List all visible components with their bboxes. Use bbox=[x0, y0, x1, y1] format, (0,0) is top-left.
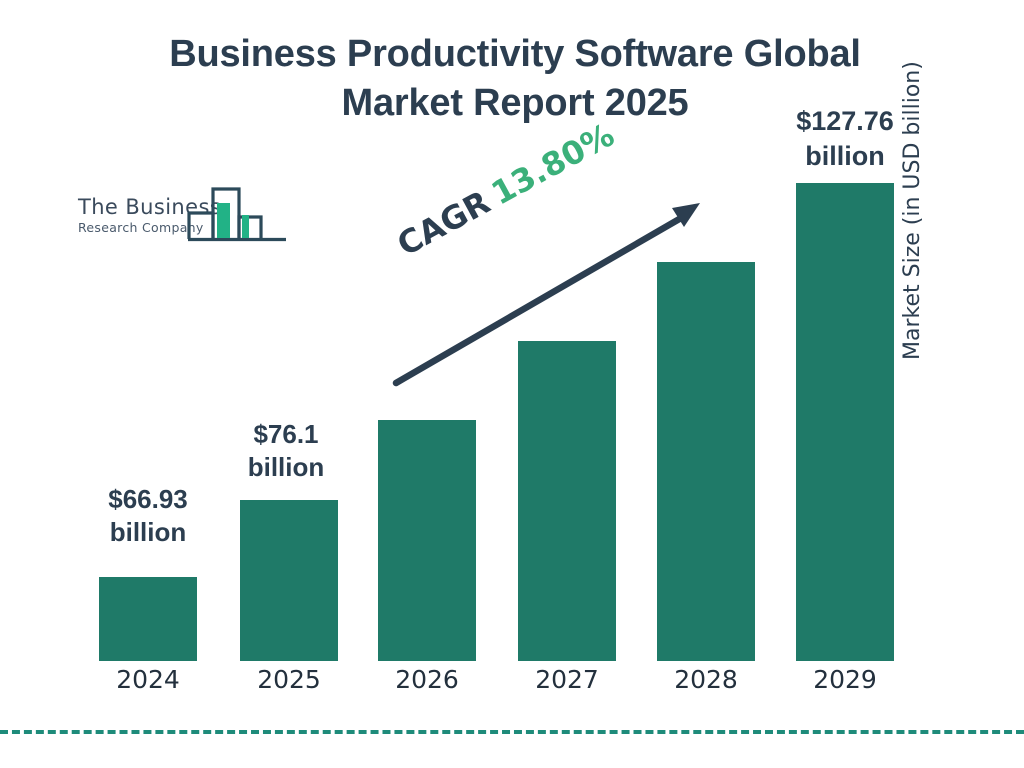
brand-logo: The Business Research Company bbox=[72, 183, 287, 255]
cagr-annotation: CAGR13.80% bbox=[391, 116, 620, 264]
x-label-2025: 2025 bbox=[240, 665, 338, 694]
x-label-2024: 2024 bbox=[99, 665, 197, 694]
bar-2025 bbox=[240, 500, 338, 661]
chart-canvas: Business Productivity Software Global Ma… bbox=[0, 0, 1024, 768]
value-label-2024: $66.93 billion bbox=[70, 483, 226, 550]
bar-2027 bbox=[518, 341, 616, 661]
bar-2028 bbox=[657, 262, 755, 661]
bar-2026 bbox=[378, 420, 476, 661]
value-label-2024-unit: billion bbox=[70, 516, 226, 549]
bar-2029 bbox=[796, 183, 894, 661]
bar-chart-logo-mark bbox=[187, 183, 287, 260]
footer-divider bbox=[0, 730, 1024, 734]
bar-2024 bbox=[99, 577, 197, 661]
x-label-2026: 2026 bbox=[378, 665, 476, 694]
y-axis-title: Market Size (in USD billion) bbox=[900, 0, 925, 360]
cagr-value: 13.80% bbox=[485, 116, 620, 213]
value-label-2025-unit: billion bbox=[212, 451, 360, 484]
value-label-2025-amount: $76.1 bbox=[212, 418, 360, 451]
value-label-2024-amount: $66.93 bbox=[70, 483, 226, 516]
x-label-2028: 2028 bbox=[657, 665, 755, 694]
cagr-label: CAGR bbox=[391, 183, 496, 264]
value-label-2025: $76.1 billion bbox=[212, 418, 360, 485]
x-label-2027: 2027 bbox=[518, 665, 616, 694]
x-label-2029: 2029 bbox=[796, 665, 894, 694]
